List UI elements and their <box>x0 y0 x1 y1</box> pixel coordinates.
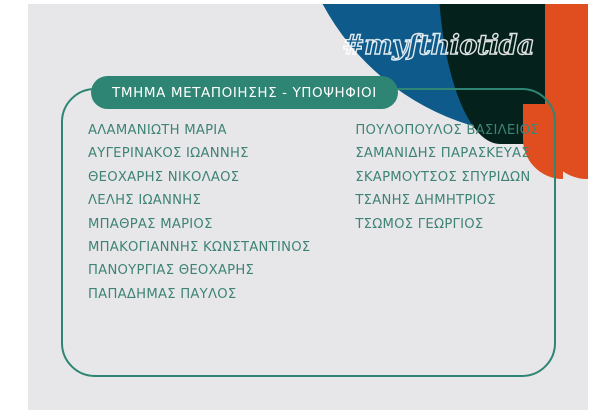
list-item: ΠΟΥΛΟΠΟΥΛΟΣ ΒΑΣΙΛΕΙΟΣ <box>355 119 548 142</box>
list-item: ΣΑΜΑΝΙΔΗΣ ΠΑΡΑΣΚΕΥΑΣ <box>355 142 548 165</box>
page-title: ΤΜΗΜΑ ΜΕΤΑΠΟΙΗΣΗΣ - ΥΠΟΨΗΦΙΟΙ <box>112 85 377 101</box>
candidate-column-right: ΠΟΥΛΟΠΟΥΛΟΣ ΒΑΣΙΛΕΙΟΣ ΣΑΜΑΝΙΔΗΣ ΠΑΡΑΣΚΕΥ… <box>355 119 548 306</box>
list-item: ΛΕΛΗΣ ΙΩΑΝΝΗΣ <box>88 189 317 212</box>
list-item: ΠΑΝΟΥΡΓΙΑΣ ΘΕΟΧΑΡΗΣ <box>88 259 317 282</box>
list-item: ΑΛΑΜΑΝΙΩΤΗ ΜΑΡΙΑ <box>88 119 317 142</box>
list-item: ΑΥΓΕΡΙΝΑΚΟΣ ΙΩΑΝΝΗΣ <box>88 142 317 165</box>
list-item: ΤΣΩΜΟΣ ΓΕΩΡΓΙΟΣ <box>355 213 548 236</box>
candidate-column-left: ΑΛΑΜΑΝΙΩΤΗ ΜΑΡΙΑ ΑΥΓΕΡΙΝΑΚΟΣ ΙΩΑΝΝΗΣ ΘΕΟ… <box>88 119 317 306</box>
list-item: ΣΚΑΡΜΟΥΤΣΟΣ ΣΠΥΡΙΔΩΝ <box>355 166 548 189</box>
slide-title-pill: ΤΜΗΜΑ ΜΕΤΑΠΟΙΗΣΗΣ - ΥΠΟΨΗΦΙΟΙ <box>91 76 398 109</box>
list-item: ΘΕΟΧΑΡΗΣ ΝΙΚΟΛΑΟΣ <box>88 166 317 189</box>
slide-canvas: #myfthiotida ΤΜΗΜΑ ΜΕΤΑΠΟΙΗΣΗΣ - ΥΠΟΨΗΦΙ… <box>28 4 588 410</box>
list-item: ΠΑΠΑΔΗΜΑΣ ΠΑΥΛΟΣ <box>88 283 317 306</box>
list-item: ΜΠΑΘΡΑΣ ΜΑΡΙΟΣ <box>88 213 317 236</box>
watermark-hashtag: #myfthiotida <box>342 30 534 61</box>
list-item: ΜΠΑΚΟΓΙΑΝΝΗΣ ΚΩΝΣΤΑΝΤΙΝΟΣ <box>88 236 317 259</box>
list-item: ΤΣΑΝΗΣ ΔΗΜΗΤΡΙΟΣ <box>355 189 548 212</box>
candidate-columns: ΑΛΑΜΑΝΙΩΤΗ ΜΑΡΙΑ ΑΥΓΕΡΙΝΑΚΟΣ ΙΩΑΝΝΗΣ ΘΕΟ… <box>88 119 548 306</box>
